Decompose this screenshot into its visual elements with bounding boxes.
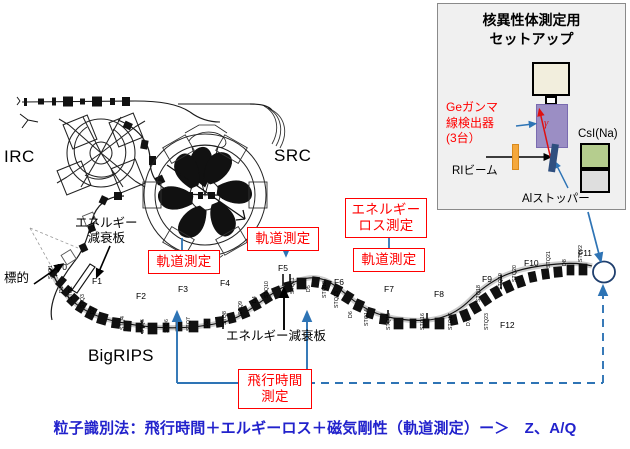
fp-label-f2: F2 — [136, 291, 146, 301]
label-irc: IRC — [4, 148, 35, 166]
mag-label-d8: D8 — [562, 259, 568, 266]
mag-label-d2: D2 — [90, 307, 96, 314]
fp-label-f9: F9 — [482, 274, 492, 284]
callout-time-of-flight[interactable]: 飛行時間 測定 — [238, 369, 312, 409]
mag-label-stq15: STQ15 — [386, 313, 392, 330]
mag-label-d5: D5 — [306, 285, 312, 292]
callout-energy-loss-line1: エネルギー — [352, 202, 421, 218]
fp-label-f4: F4 — [220, 278, 230, 288]
mag-label-stq13: STQ13 — [334, 291, 340, 308]
mag-label-stq21: STQ21 — [546, 251, 552, 268]
label-bigrips: BigRIPS — [88, 347, 154, 365]
fp-label-f5: F5 — [278, 263, 288, 273]
fp-label-f0: F0 — [57, 262, 67, 272]
label-target: 標的 — [4, 272, 29, 285]
figure-canvas: 核異性体測定用 セットアップ Geガンマ 線検出器 (3台） — [0, 0, 630, 449]
al-stopper-label: Alストッパー — [522, 190, 590, 206]
mag-label-stq14: STQ14 — [364, 309, 370, 326]
csi-crystal-top — [580, 143, 610, 169]
myosomer-setup-inset: 核異性体測定用 セットアップ Geガンマ 線検出器 (3台） — [437, 3, 626, 210]
fp-label-f1: F1 — [92, 276, 102, 286]
mag-label-d6: D6 — [348, 311, 354, 318]
mag-label-stq10: STQ10 — [264, 281, 270, 298]
plastic-scintillator — [512, 144, 519, 170]
mag-label-stq6: STQ6 — [164, 319, 170, 333]
ri-beam-label: RIビーム — [452, 162, 498, 178]
mag-label-stq11: STQ11 — [290, 277, 296, 294]
mag-label-stq1: STQ1 — [48, 265, 54, 279]
callout-energy-loss[interactable]: エネルギー ロス測定 — [345, 198, 427, 238]
mag-label-stq16: STQ16 — [420, 313, 426, 330]
mag-label-stq19: STQ19 — [498, 273, 504, 290]
mag-label-d1: D1 — [59, 286, 65, 293]
callout-tof-line1: 飛行時間 — [247, 373, 302, 389]
svg-text:γ: γ — [544, 117, 549, 129]
callout-traj-f5[interactable]: 軌道測定 — [247, 227, 319, 251]
mag-label-stq20: STQ20 — [512, 265, 518, 282]
mag-label-stq4: STQ4 — [120, 316, 126, 330]
mag-label-stq5: STQ5 — [140, 319, 146, 333]
label-energy-degrader-upper: エネルギー 減衰板 — [75, 216, 138, 246]
callout-energy-loss-line2: ロス測定 — [358, 218, 413, 234]
fp-label-f12: F12 — [500, 320, 515, 330]
callout-traj-f3[interactable]: 軌道測定 — [148, 250, 220, 274]
mag-label-d4: D4 — [252, 296, 258, 303]
fp-label-f10: F10 — [524, 258, 539, 268]
mag-label-stq23: STQ23 — [484, 313, 490, 330]
mag-label-stq12: STQ12 — [322, 281, 328, 298]
fp-label-f8: F8 — [434, 289, 444, 299]
callout-traj-f7-text: 軌道測定 — [361, 252, 416, 268]
callout-traj-f3-text: 軌道測定 — [156, 254, 211, 270]
fp-label-f7: F7 — [384, 284, 394, 294]
mag-label-stq18: STQ18 — [476, 285, 482, 302]
callout-traj-f5-text: 軌道測定 — [255, 231, 310, 247]
mag-label-stq3: STQ3 — [80, 294, 86, 308]
mag-label-stq22: STQ22 — [578, 245, 584, 262]
mag-label-stq9: STQ9 — [238, 301, 244, 315]
csi-label: CsI(Na) — [578, 128, 618, 140]
fp-label-f6: F6 — [334, 277, 344, 287]
label-src: SRC — [274, 147, 311, 165]
mag-label-stq7: STQ7 — [186, 317, 192, 331]
particle-identification-formula: 粒子識別法：飛行時間＋エルギーロス＋磁気剛性（軌道測定）ー＞ Ζ、A/Q — [0, 417, 630, 438]
callout-tof-line2: 測定 — [261, 389, 289, 405]
mag-label-d7: D7 — [466, 319, 472, 326]
callout-traj-f7[interactable]: 軌道測定 — [353, 248, 425, 272]
mag-label-stq17: STQ17 — [448, 313, 454, 330]
mag-label-d3: D3 — [204, 321, 210, 328]
mag-label-stq8: STQ8 — [222, 311, 228, 325]
mag-label-stq2: STQ2 — [68, 286, 74, 300]
fp-label-f3: F3 — [178, 284, 188, 294]
f11-ring — [593, 262, 615, 283]
label-energy-degrader-lower: エネルギー減衰板 — [226, 330, 326, 343]
